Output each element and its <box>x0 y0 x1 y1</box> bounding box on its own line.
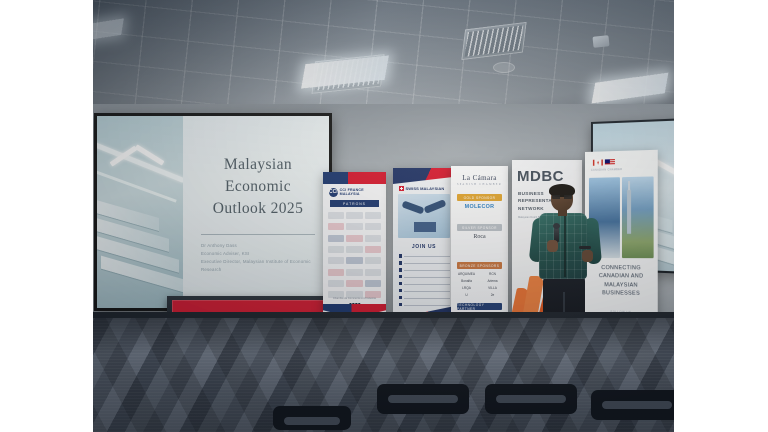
bronze-sponsor: LRQA <box>455 286 478 290</box>
swiss-malaysian-logo-text: SWISS MALAYSIAN <box>406 186 445 191</box>
banner-caption: Chambre de Commerce et d'Industrie <box>327 297 382 301</box>
bullet-marker <box>399 303 402 306</box>
la-camara-logo: La Cámara SPANISH CHAMBER <box>451 174 508 186</box>
sponsor-logo-grid <box>328 212 381 300</box>
chair <box>273 406 351 432</box>
chair <box>591 390 674 432</box>
cci-logo: CCI CCI FRANCE MALAYSIA <box>329 186 380 198</box>
bronze-sponsor: U <box>455 293 478 297</box>
slide-title: Malaysian Economic Outlook 2025 <box>197 154 319 220</box>
mdbc-logo-text: MDBC <box>517 168 564 185</box>
chair-back <box>591 390 674 420</box>
bullet-text <box>404 275 450 278</box>
tier-label-technology: TECHNOLOGY PARTNER <box>457 303 502 310</box>
chair <box>377 384 469 432</box>
chair-back <box>377 384 469 414</box>
sponsor-logo <box>365 280 381 287</box>
sponsor-logo <box>346 280 362 287</box>
sponsor-logo <box>346 212 362 219</box>
malaysia-flag-icon <box>605 159 615 165</box>
bullet-text <box>404 282 450 285</box>
chair-back <box>273 406 351 430</box>
sponsor-logo <box>328 257 344 264</box>
banner-bullet-list <box>399 254 450 310</box>
shirt-placket <box>564 213 566 277</box>
tier-label-bronze: BRONZE SPONSORS <box>457 262 502 269</box>
tower-silhouette <box>627 189 631 234</box>
sponsor-logo <box>346 246 362 253</box>
chair <box>485 384 577 432</box>
projection-screen: Malaysian Economic Outlook 2025 Dr Antho… <box>94 113 332 311</box>
bullet-item <box>399 303 450 307</box>
banner-top-swoosh <box>393 168 455 184</box>
flag-pair <box>593 159 615 166</box>
cci-logo-mark: CCI <box>329 188 338 197</box>
gold-sponsor-logo: MOLECOR <box>456 204 503 210</box>
banner-headline: JOIN US <box>393 244 455 250</box>
sponsor-logo <box>365 269 381 276</box>
slide-presenter-role: Economic Adviser, KSI <box>201 250 317 258</box>
sponsor-logo <box>328 235 344 242</box>
speaker-hand-right <box>582 250 593 262</box>
sponsor-logo <box>365 223 381 230</box>
swiss-malaysian-logo: SWISS MALAYSIAN <box>399 186 444 191</box>
sponsor-logo <box>328 212 344 219</box>
banner-cci-france-malaysia: CCI CCI FRANCE MALAYSIA PATRONS Chambre … <box>323 172 386 334</box>
bullet-item <box>399 261 450 265</box>
sponsor-logo <box>365 257 381 264</box>
sponsor-logo <box>346 223 362 230</box>
bullet-text <box>404 268 450 271</box>
sponsor-logo <box>328 280 344 287</box>
tier-label-gold: GOLD SPONSOR <box>457 194 502 201</box>
bullet-item <box>399 282 450 286</box>
bronze-sponsor: Bonalfa <box>455 279 478 283</box>
bronze-sponsor: ARQUIMEA <box>455 272 478 276</box>
bronze-sponsor: Ariema <box>481 279 504 283</box>
bullet-item <box>399 275 450 279</box>
ceiling <box>93 0 674 118</box>
bullet-item <box>399 289 450 293</box>
wristwatch-icon <box>579 246 591 249</box>
sponsor-logo <box>346 269 362 276</box>
conference-photo: Malaysian Economic Outlook 2025 Dr Antho… <box>93 0 674 432</box>
slide-stock-image <box>97 116 183 308</box>
bullet-item <box>399 268 450 272</box>
smoke-detector-icon <box>592 35 609 48</box>
bullet-text <box>404 254 450 257</box>
growth-arrow-icon <box>111 140 173 176</box>
tier-label-silver: SILVER SPONSOR <box>457 224 502 231</box>
bullet-text <box>404 261 450 264</box>
swiss-cross-icon <box>399 186 404 191</box>
banner-top-chevron <box>323 172 386 184</box>
sponsor-logo <box>328 269 344 276</box>
sponsor-logo <box>365 235 381 242</box>
slide-subtitle: Dr Anthony Dass Economic Adviser, KSI Ex… <box>201 242 317 275</box>
cci-logo-text: CCI FRANCE MALAYSIA <box>340 188 380 196</box>
la-camara-logo-text: La Cámara <box>462 174 497 182</box>
table-shape <box>414 222 436 232</box>
bullet-item <box>399 296 450 300</box>
bullet-text <box>404 303 450 306</box>
slide-presenter-name: Dr Anthony Dass <box>201 242 317 250</box>
photo-canvas: Malaysian Economic Outlook 2025 Dr Antho… <box>0 0 768 432</box>
bullet-marker <box>399 254 402 257</box>
slide-divider <box>201 234 315 235</box>
sponsor-logo <box>346 257 362 264</box>
bronze-sponsor: VILLA <box>481 286 504 290</box>
banner-hero-image <box>398 194 450 238</box>
bronze-sponsor: 2e <box>481 293 504 297</box>
chair-back <box>485 384 577 414</box>
sponsor-logo <box>328 223 344 230</box>
slide-presenter-affiliation: Executive Director, Malaysian Institute … <box>201 258 317 274</box>
bullet-marker <box>399 268 402 271</box>
handshake-arm <box>423 199 446 214</box>
glasses-icon <box>552 195 572 199</box>
silver-sponsor-logo: Roca <box>456 234 503 240</box>
sponsor-logo <box>328 246 344 253</box>
handshake-arm <box>401 200 424 214</box>
sponsor-logo <box>365 246 381 253</box>
slide-title-line-1: Malaysian Economic <box>197 154 319 198</box>
chamber-caption: CANADIAN CHAMBER <box>591 168 622 172</box>
banner-section-label: PATRONS <box>330 200 379 207</box>
bullet-item <box>399 254 450 258</box>
bronze-sponsor-grid: ARQUIMEA RCN Bonalfa Ariema LRQA VILLA U… <box>455 272 504 297</box>
canada-flag-icon <box>593 159 603 165</box>
slide-title-line-2: Outlook 2025 <box>197 198 319 220</box>
bullet-marker <box>399 289 402 292</box>
bullet-text <box>404 289 450 292</box>
la-camara-logo-sub: SPANISH CHAMBER <box>451 183 508 186</box>
bullet-marker <box>399 261 402 264</box>
ceiling-speaker-grille <box>493 62 515 73</box>
bullet-marker <box>399 275 402 278</box>
bullet-text <box>404 296 450 299</box>
speaker-hand-left <box>547 240 558 252</box>
sponsor-logo <box>346 235 362 242</box>
banner-la-camara: La Cámara SPANISH CHAMBER GOLD SPONSOR M… <box>451 166 508 334</box>
bullet-marker <box>399 282 402 285</box>
presentation-slide: Malaysian Economic Outlook 2025 Dr Antho… <box>97 116 329 308</box>
bullet-marker <box>399 296 402 299</box>
bronze-sponsor: RCN <box>481 272 504 276</box>
sponsor-logo <box>365 212 381 219</box>
slide-text-area: Malaysian Economic Outlook 2025 Dr Antho… <box>183 116 329 308</box>
